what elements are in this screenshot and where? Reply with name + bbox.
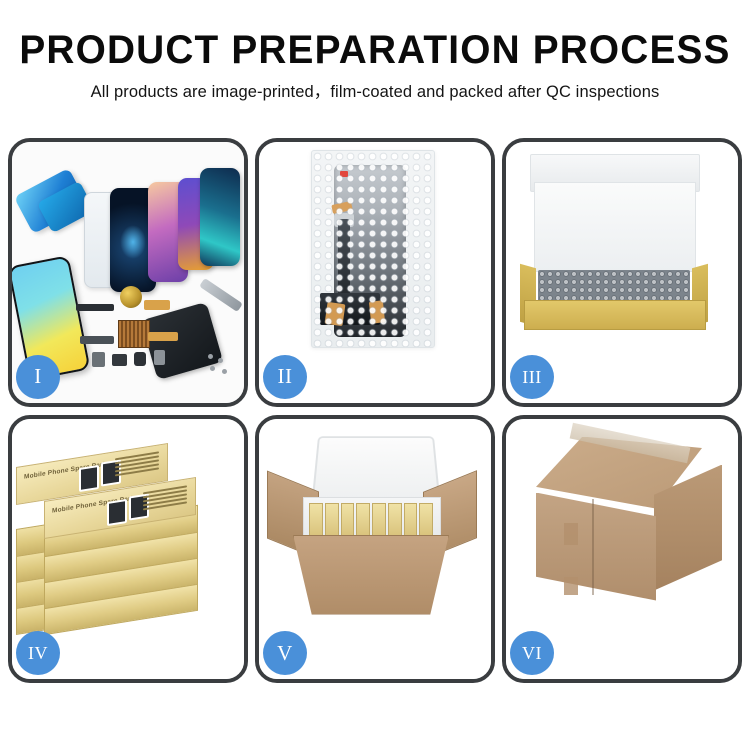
step-badge-1: I	[16, 355, 60, 399]
flex-cable-4-icon	[148, 332, 178, 341]
bubble-wrapped-product-icon	[538, 270, 690, 304]
step-numeral-1: I	[34, 366, 42, 387]
sealed-carton-front	[536, 493, 656, 601]
process-step-3[interactable]: III	[502, 138, 742, 407]
process-step-6[interactable]: VI	[502, 415, 742, 684]
bubble-wrap-bag	[311, 150, 435, 348]
process-step-grid: I II	[8, 138, 742, 683]
step-badge-5: V	[263, 631, 307, 675]
product-preparation-infographic: PRODUCT PREPARATION PROCESS All products…	[0, 0, 750, 750]
step-badge-6: VI	[510, 631, 554, 675]
flex-cable-2-icon	[144, 300, 170, 310]
phone-teal-screen-icon	[200, 168, 240, 266]
copper-coil-icon	[120, 286, 142, 308]
carton-mark-2	[564, 577, 578, 595]
header: PRODUCT PREPARATION PROCESS All products…	[0, 0, 750, 101]
process-step-2[interactable]: II	[255, 138, 495, 407]
page-subtitle: All products are image-printed，film-coat…	[0, 84, 750, 101]
small-part-1-icon	[92, 352, 105, 367]
carton-seam	[592, 499, 594, 595]
step-numeral-6: VI	[522, 644, 542, 662]
process-step-5[interactable]: V	[255, 415, 495, 684]
step-numeral-2: II	[278, 366, 293, 387]
white-foam-sheet-icon	[534, 182, 696, 272]
step-numeral-5: V	[277, 643, 293, 664]
step-badge-3: III	[510, 355, 554, 399]
foam-lid-icon	[312, 436, 441, 501]
small-part-3-icon	[134, 352, 146, 366]
box-screen-print-front-1	[107, 498, 127, 525]
box-spec-lines-top	[115, 451, 159, 480]
ic-chip-icon	[118, 320, 150, 348]
step-badge-2: II	[263, 355, 307, 399]
flex-cable-3-icon	[80, 336, 114, 344]
step-numeral-4: IV	[28, 644, 48, 662]
step-badge-4: IV	[16, 631, 60, 675]
screws-group-icon	[208, 354, 234, 376]
process-step-1[interactable]: I	[8, 138, 248, 407]
gold-boxes-in-carton	[309, 503, 433, 537]
process-step-4[interactable]: Mobile Phone Spare Parts Mobile Phone Sp…	[8, 415, 248, 684]
small-part-4-icon	[154, 350, 165, 365]
gold-box-stack: Mobile Phone Spare Parts Mobile Phone Sp…	[16, 445, 228, 623]
step-numeral-3: III	[522, 368, 541, 386]
page-title: PRODUCT PREPARATION PROCESS	[11, 30, 739, 70]
box-spec-lines-front	[143, 485, 187, 514]
box-screen-print-top-1	[79, 464, 99, 491]
carton-mark-1	[564, 523, 578, 545]
flex-cable-1-icon	[76, 304, 114, 311]
gold-tray-front	[524, 300, 706, 330]
bubble-texture-overlay	[312, 151, 434, 347]
carton-body	[293, 535, 449, 615]
spare-parts-cluster	[74, 292, 194, 374]
small-part-2-icon	[112, 354, 127, 366]
